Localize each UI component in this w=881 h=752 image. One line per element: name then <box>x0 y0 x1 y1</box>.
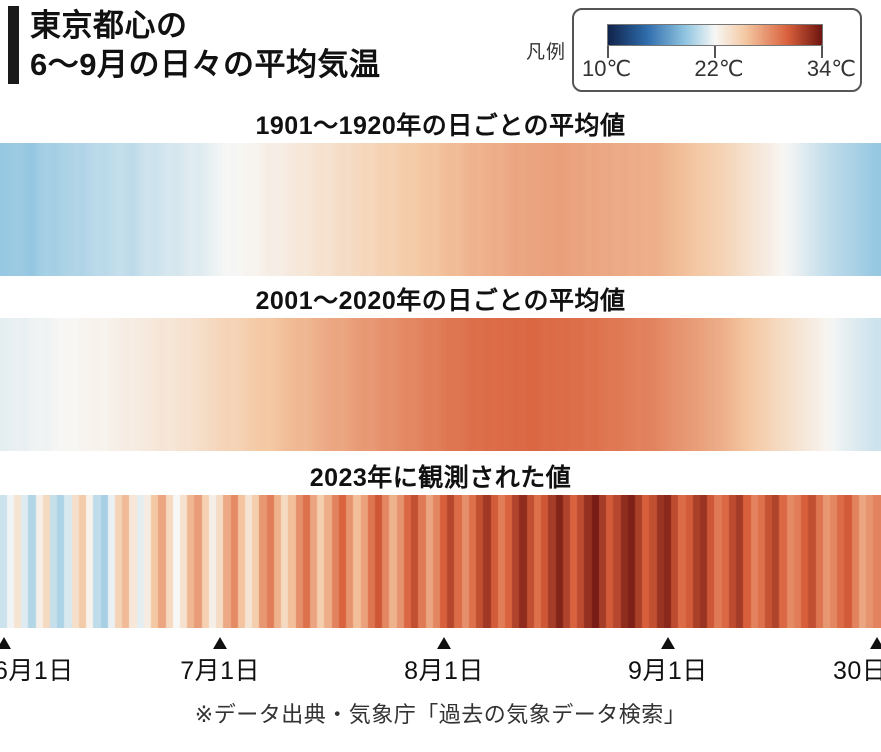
stripes-panel-1901-1920: 1901〜1920年の日ごとの平均値 <box>0 110 881 276</box>
warming-stripes-2001-2020 <box>0 318 881 451</box>
axis-label-3: 8月1日 <box>404 651 484 687</box>
axis-label-5: 30日 <box>833 651 881 687</box>
panel-title-3: 2023年に観測された値 <box>0 462 881 495</box>
stripes-canvas-wrap-3 <box>0 495 881 628</box>
time-axis: 6月1日7月1日8月1日9月1日30日 <box>0 637 881 685</box>
stripes-canvas-wrap-1 <box>0 143 881 276</box>
title-text: 東京都心の 6〜9月の日々の平均気温 <box>30 6 380 84</box>
stripes-panel-2001-2020: 2001〜2020年の日ごとの平均値 <box>0 285 881 451</box>
axis-tick-marker-5 <box>870 637 881 649</box>
legend-label-max: 34℃ <box>807 56 856 82</box>
panel-title-2: 2001〜2020年の日ごとの平均値 <box>0 285 881 318</box>
stripes-canvas-wrap-2 <box>0 318 881 451</box>
warming-stripes-2023 <box>0 495 881 628</box>
axis-tick-marker-2 <box>213 637 227 649</box>
header: 東京都心の 6〜9月の日々の平均気温 凡例 10℃ 22℃ 34℃ <box>0 0 881 108</box>
legend-color-gradient <box>607 24 823 46</box>
axis-tick-marker-3 <box>437 637 451 649</box>
page-title: 東京都心の 6〜9月の日々の平均気温 <box>8 6 380 84</box>
legend: 凡例 10℃ 22℃ 34℃ <box>526 8 862 92</box>
legend-box: 10℃ 22℃ 34℃ <box>572 8 862 92</box>
panel-title-1: 1901〜1920年の日ごとの平均値 <box>0 110 881 143</box>
legend-label-min: 10℃ <box>582 56 631 82</box>
source-note: ※データ出典・気象庁「過去の気象データ検索」 <box>0 697 881 729</box>
legend-caption: 凡例 <box>526 37 566 64</box>
axis-tick-marker-1 <box>0 637 11 649</box>
axis-label-2: 7月1日 <box>180 651 260 687</box>
axis-label-4: 9月1日 <box>628 651 708 687</box>
stripes-panel-2023: 2023年に観測された値 <box>0 462 881 628</box>
title-line-2: 6〜9月の日々の平均気温 <box>30 45 380 84</box>
title-accent-bar <box>8 6 19 84</box>
warming-stripes-1901-1920 <box>0 143 881 276</box>
legend-labels: 10℃ 22℃ 34℃ <box>582 56 856 82</box>
axis-tick-marker-4 <box>661 637 675 649</box>
axis-label-1: 6月1日 <box>0 651 74 687</box>
legend-label-mid: 22℃ <box>694 56 743 82</box>
title-line-1: 東京都心の <box>30 6 380 45</box>
